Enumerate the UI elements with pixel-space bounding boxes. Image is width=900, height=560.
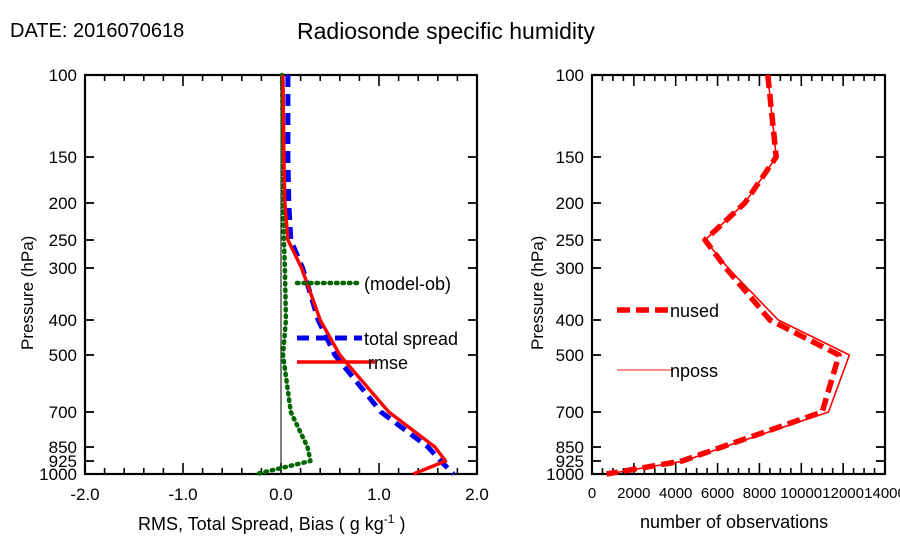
y-tick-label: 400 [49,311,77,330]
chart-page: DATE: 2016070618 Radiosonde specific hum… [0,0,900,560]
y-tick-label: 700 [556,403,584,422]
y-tick-label: 700 [49,403,77,422]
y-tick-label: 250 [49,231,77,250]
x-tick-label: 12000 [822,485,864,502]
legend-label-totalspread: total spread [364,329,458,349]
plot-canvas: -2.0-1.00.01.02.010015020025030040050070… [0,0,900,560]
y-tick-label: 1000 [546,465,584,484]
y-tick-label: 250 [556,231,584,250]
legend-label-modelob: (model-ob) [364,274,451,294]
right-plot-group: 0200040006000800010000120001400010015020… [546,66,900,502]
x-tick-label: 4000 [659,485,692,502]
x-tick-label: 2.0 [465,485,489,504]
y-tick-label: 500 [49,346,77,365]
x-tick-label: 2000 [617,485,650,502]
x-tick-label: 0 [588,485,596,502]
legend-label-rmse: rmse [368,353,408,373]
legend-label-nposs: nposs [670,361,718,381]
x-tick-label: 1.0 [367,485,391,504]
left-plot-group: -2.0-1.00.01.02.010015020025030040050070… [39,66,489,504]
x-tick-label: 0.0 [269,485,293,504]
x-tick-label: -1.0 [168,485,197,504]
x-tick-label: -2.0 [70,485,99,504]
y-tick-label: 150 [556,148,584,167]
x-tick-label: 8000 [743,485,776,502]
y-tick-label: 400 [556,311,584,330]
y-tick-label: 1000 [39,465,77,484]
y-tick-label: 200 [556,194,584,213]
y-tick-label: 300 [49,259,77,278]
x-tick-label: 10000 [780,485,822,502]
legend-label-nused: nused [670,301,719,321]
series-line-nused [607,75,839,474]
y-tick-label: 150 [49,148,77,167]
x-tick-label: 14000 [864,485,900,502]
y-tick-label: 100 [556,66,584,85]
x-tick-label: 6000 [701,485,734,502]
y-tick-label: 100 [49,66,77,85]
y-tick-label: 500 [556,346,584,365]
y-tick-label: 300 [556,259,584,278]
y-tick-label: 200 [49,194,77,213]
